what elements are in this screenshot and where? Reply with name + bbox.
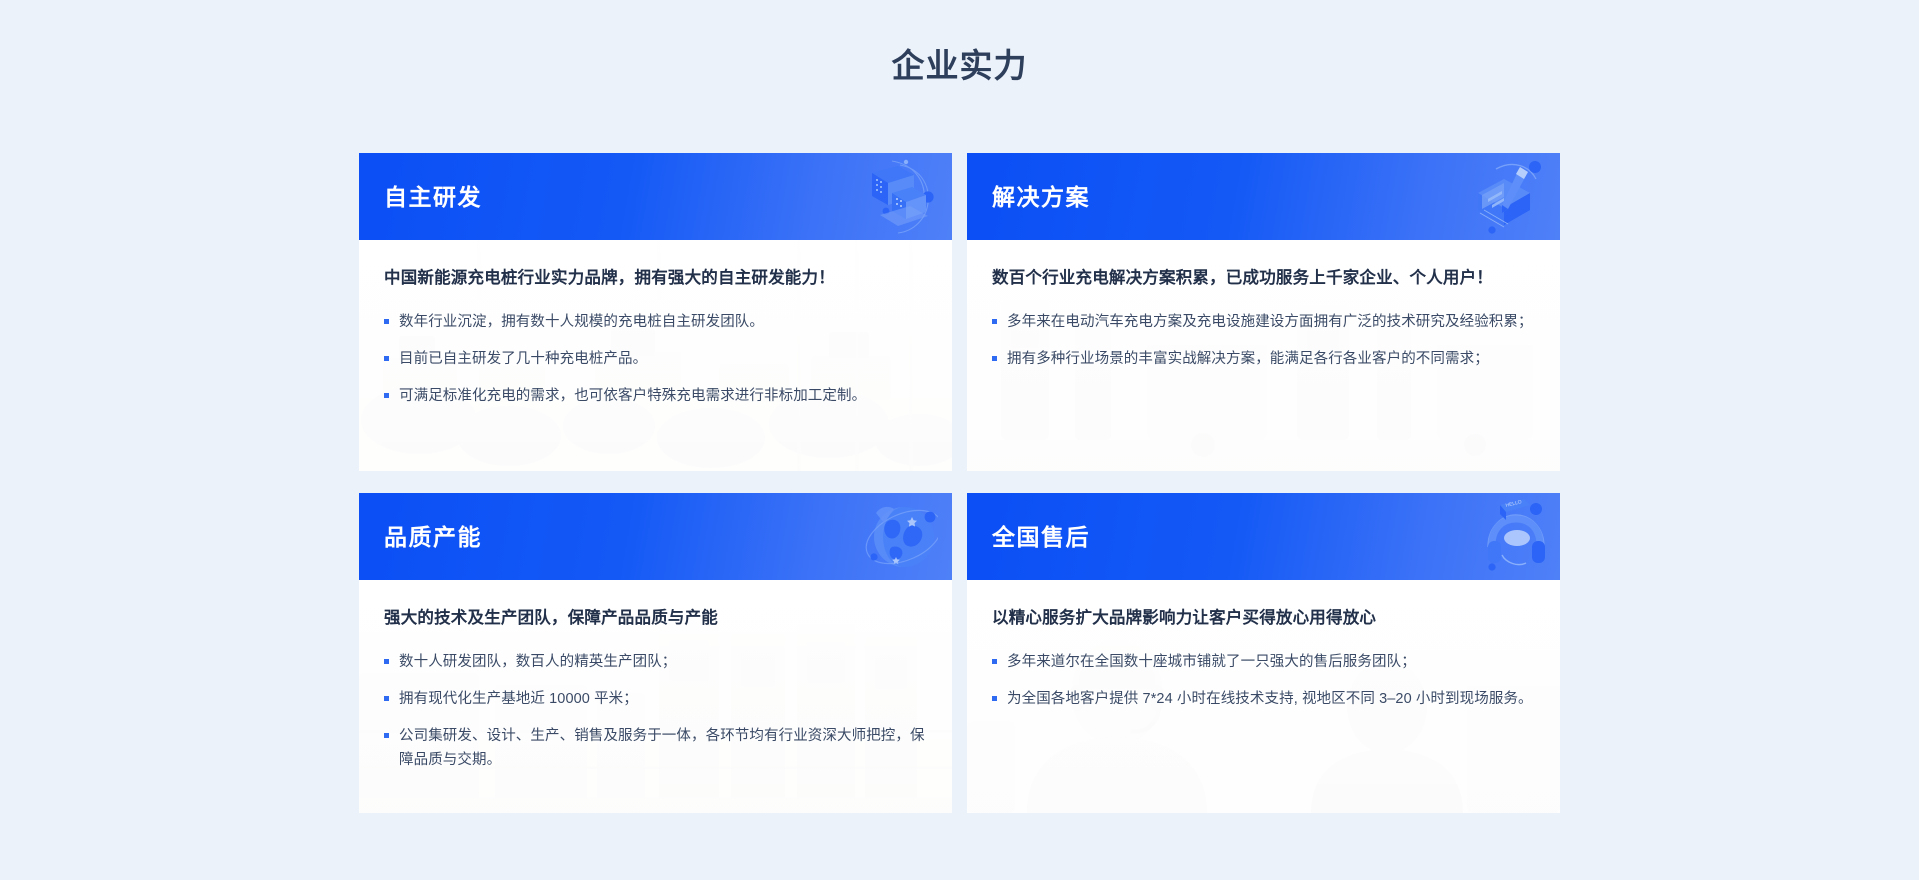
card-title: 解决方案 (992, 182, 1090, 212)
list-item: 数年行业沉淀，拥有数十人规模的充电桩自主研发团队。 (384, 310, 927, 334)
list-item-text: 拥有多种行业场景的丰富实战解决方案，能满足各行各业客户的不同需求； (1007, 351, 1489, 367)
card-lead-text: 数百个行业充电解决方案积累，已成功服务上千家企业、个人用户！ (992, 266, 1535, 290)
list-item: 多年来道尔在全国数十座城市铺就了一只强大的售后服务团队； (992, 650, 1535, 674)
strength-card-quality-capacity[interactable]: 品质产能 (359, 493, 952, 813)
list-item-text: 公司集研发、设计、生产、销售及服务于一体，各环节均有行业资深大师把控，保障品质与… (399, 728, 925, 768)
list-item-text: 为全国各地客户提供 7*24 小时在线技术支持, 视地区不同 3–20 小时到现… (1007, 691, 1533, 707)
card-body: 中国新能源充电桩行业实力品牌，拥有强大的自主研发能力！ 数年行业沉淀，拥有数十人… (359, 240, 952, 471)
card-bullet-list: 数年行业沉淀，拥有数十人规模的充电桩自主研发团队。 目前已自主研发了几十种充电桩… (384, 310, 927, 408)
bullet-marker-icon (384, 696, 389, 701)
bullet-marker-icon (992, 696, 997, 701)
list-item: 数十人研发团队，数百人的精英生产团队； (384, 650, 927, 674)
bullet-marker-icon (384, 393, 389, 398)
list-item-text: 数十人研发团队，数百人的精英生产团队； (399, 654, 676, 670)
card-title: 全国售后 (992, 522, 1090, 552)
list-item: 拥有现代化生产基地近 10000 平米； (384, 687, 927, 711)
list-item-text: 数年行业沉淀，拥有数十人规模的充电桩自主研发团队。 (399, 314, 764, 330)
list-item: 拥有多种行业场景的丰富实战解决方案，能满足各行各业客户的不同需求； (992, 347, 1535, 371)
card-header: 解决方案 (967, 153, 1560, 240)
bullet-marker-icon (384, 356, 389, 361)
list-item-text: 拥有现代化生产基地近 10000 平米； (399, 691, 638, 707)
strength-card-independent-rd[interactable]: 自主研发 (359, 153, 952, 471)
list-item: 公司集研发、设计、生产、销售及服务于一体，各环节均有行业资深大师把控，保障品质与… (384, 724, 927, 772)
bullet-marker-icon (992, 319, 997, 324)
card-header: 品质产能 (359, 493, 952, 580)
list-item-text: 多年来在电动汽车充电方案及充电设施建设方面拥有广泛的技术研究及经验积累； (1007, 314, 1533, 330)
card-title: 自主研发 (384, 182, 482, 212)
list-item: 可满足标准化充电的需求，也可依客户特殊充电需求进行非标加工定制。 (384, 384, 927, 408)
list-item-text: 多年来道尔在全国数十座城市铺就了一只强大的售后服务团队； (1007, 654, 1416, 670)
list-item-text: 目前已自主研发了几十种充电桩产品。 (399, 351, 647, 367)
headset-support-icon: HELLO (1396, 493, 1546, 580)
card-lead-text: 中国新能源充电桩行业实力品牌，拥有强大的自主研发能力！ (384, 266, 927, 290)
card-bullet-list: 数十人研发团队，数百人的精英生产团队； 拥有现代化生产基地近 10000 平米；… (384, 650, 927, 772)
computer-monitor-icon (788, 153, 938, 240)
page-title: 企业实力 (0, 44, 1919, 88)
strength-card-solutions[interactable]: 解决方案 (967, 153, 1560, 471)
card-body: 以精心服务扩大品牌影响力让客户买得放心用得放心 多年来道尔在全国数十座城市铺就了… (967, 580, 1560, 813)
card-header: 全国售后 (967, 493, 1560, 580)
strength-card-grid: 自主研发 (359, 153, 1560, 813)
bullet-marker-icon (384, 319, 389, 324)
bullet-marker-icon (384, 733, 389, 738)
card-header: 自主研发 (359, 153, 952, 240)
card-lead-text: 以精心服务扩大品牌影响力让客户买得放心用得放心 (992, 606, 1535, 630)
enterprise-strength-section: 企业实力 自主研发 (0, 0, 1919, 880)
card-bullet-list: 多年来在电动汽车充电方案及充电设施建设方面拥有广泛的技术研究及经验积累； 拥有多… (992, 310, 1535, 371)
strength-card-nationwide-service[interactable]: 全国售后 (967, 493, 1560, 813)
card-bullet-list: 多年来道尔在全国数十座城市铺就了一只强大的售后服务团队； 为全国各地客户提供 7… (992, 650, 1535, 711)
globe-icon (788, 493, 938, 580)
list-item: 目前已自主研发了几十种充电桩产品。 (384, 347, 927, 371)
bullet-marker-icon (384, 659, 389, 664)
list-item-text: 可满足标准化充电的需求，也可依客户特殊充电需求进行非标加工定制。 (399, 388, 866, 404)
bullet-marker-icon (992, 356, 997, 361)
bullet-marker-icon (992, 659, 997, 664)
list-item: 为全国各地客户提供 7*24 小时在线技术支持, 视地区不同 3–20 小时到现… (992, 687, 1535, 711)
card-title: 品质产能 (384, 522, 482, 552)
card-lead-text: 强大的技术及生产团队，保障产品品质与产能 (384, 606, 927, 630)
list-item: 多年来在电动汽车充电方案及充电设施建设方面拥有广泛的技术研究及经验积累； (992, 310, 1535, 334)
notebook-pen-icon (1396, 153, 1546, 240)
card-body: 数百个行业充电解决方案积累，已成功服务上千家企业、个人用户！ 多年来在电动汽车充… (967, 240, 1560, 471)
card-body: 强大的技术及生产团队，保障产品品质与产能 数十人研发团队，数百人的精英生产团队；… (359, 580, 952, 813)
